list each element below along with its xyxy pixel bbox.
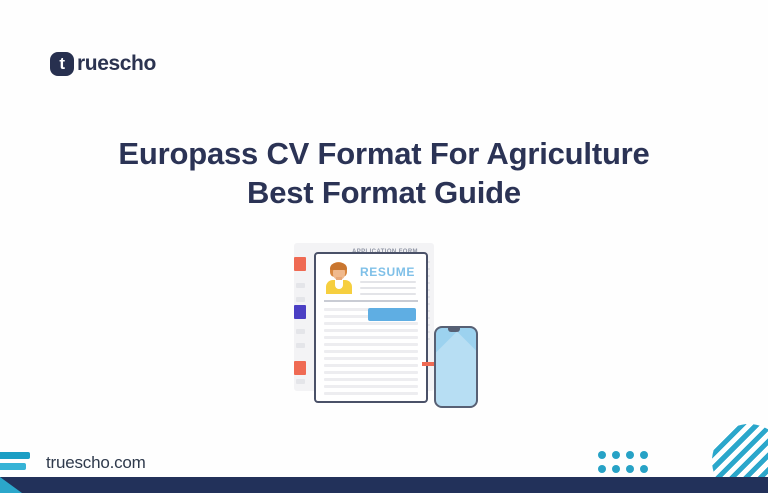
- resume-header-lines: [360, 281, 416, 299]
- page-title: Europass CV Format For Agriculture Best …: [64, 134, 704, 212]
- dot: [598, 451, 606, 459]
- form-tab-red-top: [294, 257, 306, 271]
- page-title-line-1: Europass CV Format For Agriculture: [118, 136, 649, 171]
- resume-highlight-chip: [368, 308, 416, 321]
- illustration-red-accent: [422, 362, 434, 366]
- footer-bar-2: [0, 463, 26, 470]
- dot: [640, 465, 648, 473]
- avatar-hair-front: [330, 263, 347, 270]
- resume-document: RESUME: [314, 252, 428, 403]
- page-title-line-2: Best Format Guide: [247, 175, 521, 210]
- resume-body-lines: [324, 308, 418, 399]
- dot: [640, 451, 648, 459]
- form-tab-red-bottom: [294, 361, 306, 375]
- phone-notch-icon: [448, 328, 460, 332]
- avatar-collar: [335, 280, 343, 289]
- poster-canvas: t ruescho Europass CV Format For Agricul…: [0, 0, 768, 493]
- dot: [598, 465, 606, 473]
- resume-divider: [324, 300, 418, 302]
- form-tab-gray-1: [296, 283, 305, 288]
- smartphone: [434, 326, 478, 408]
- brand-name: ruescho: [77, 52, 156, 76]
- form-tab-gray-4: [296, 343, 305, 348]
- footer-website-url[interactable]: truescho.com: [46, 453, 146, 473]
- brand-mark-icon: t: [50, 52, 74, 76]
- form-tab-gray-2: [296, 297, 305, 302]
- dot: [612, 451, 620, 459]
- brand-logo[interactable]: t ruescho: [50, 52, 156, 76]
- dot: [626, 451, 634, 459]
- footer-bar-1: [0, 452, 30, 459]
- resume-heading: RESUME: [360, 265, 415, 279]
- avatar: [324, 262, 354, 294]
- dot: [626, 465, 634, 473]
- form-tab-gray-5: [296, 379, 305, 384]
- bottom-bar-triangle-accent: [0, 477, 22, 493]
- dot: [612, 465, 620, 473]
- form-tab-gray-3: [296, 329, 305, 334]
- footer-accent-bars: [0, 452, 30, 470]
- footer-dots-decoration: [598, 451, 649, 474]
- bottom-bar: [0, 477, 768, 493]
- form-tab-purple: [294, 305, 306, 319]
- resume-illustration: APPLICATION FORM RESUME: [288, 238, 480, 410]
- phone-screen-sheen: [434, 332, 478, 408]
